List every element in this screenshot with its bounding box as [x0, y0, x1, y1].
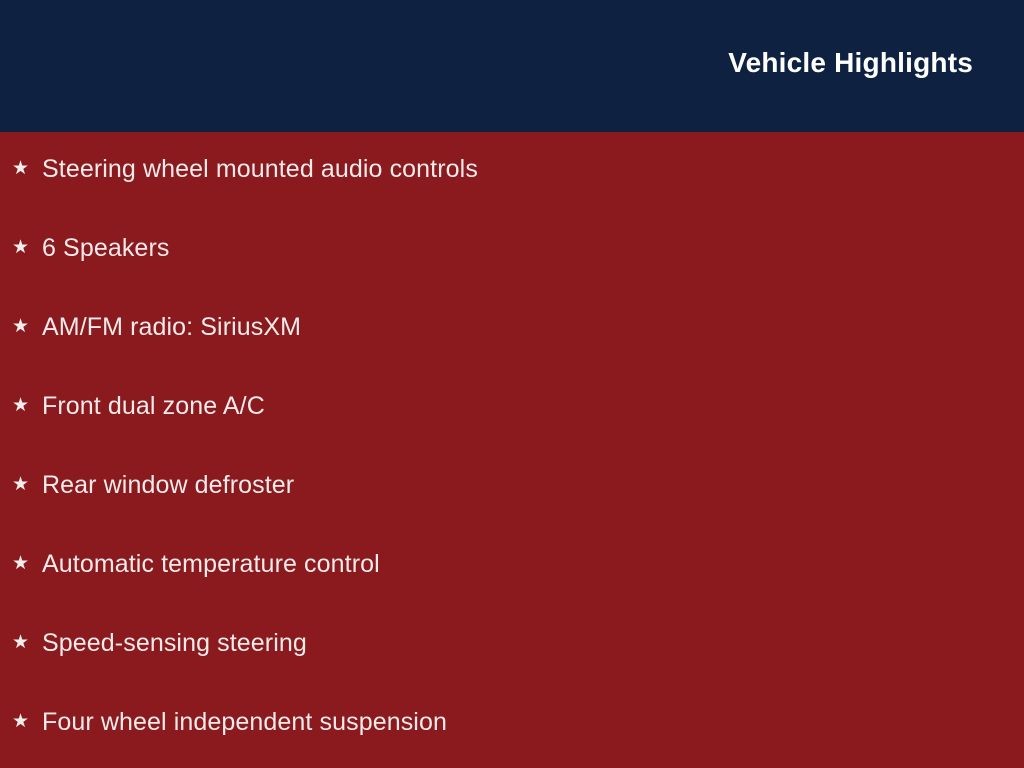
feature-label: Four wheel independent suspension [42, 705, 447, 739]
feature-label: Speed-sensing steering [42, 626, 307, 660]
list-item: ★ AM/FM radio: SiriusXM [12, 310, 301, 344]
star-bullet-icon: ★ [12, 547, 42, 581]
star-bullet-icon: ★ [12, 231, 42, 265]
star-bullet-icon: ★ [12, 626, 42, 660]
feature-label: Automatic temperature control [42, 547, 380, 581]
list-item: ★ Speed-sensing steering [12, 626, 307, 660]
feature-label: Steering wheel mounted audio controls [42, 152, 478, 186]
list-item: ★ Steering wheel mounted audio controls [12, 152, 478, 186]
vehicle-highlights-slide: Vehicle Highlights ★ Steering wheel moun… [0, 0, 1024, 768]
list-item: ★ 6 Speakers [12, 231, 169, 265]
star-bullet-icon: ★ [12, 468, 42, 502]
list-item: ★ Four wheel independent suspension [12, 705, 447, 739]
star-bullet-icon: ★ [12, 705, 42, 739]
header-band: Vehicle Highlights [0, 0, 1024, 132]
list-item: ★ Front dual zone A/C [12, 389, 265, 423]
feature-label: 6 Speakers [42, 231, 169, 265]
feature-label: Front dual zone A/C [42, 389, 265, 423]
feature-label: Rear window defroster [42, 468, 294, 502]
vehicle-features-list: ★ Steering wheel mounted audio controls … [0, 132, 1024, 768]
page-title: Vehicle Highlights [728, 46, 973, 80]
star-bullet-icon: ★ [12, 152, 42, 186]
feature-label: AM/FM radio: SiriusXM [42, 310, 301, 344]
star-bullet-icon: ★ [12, 310, 42, 344]
star-bullet-icon: ★ [12, 389, 42, 423]
list-item: ★ Rear window defroster [12, 468, 294, 502]
list-item: ★ Automatic temperature control [12, 547, 380, 581]
